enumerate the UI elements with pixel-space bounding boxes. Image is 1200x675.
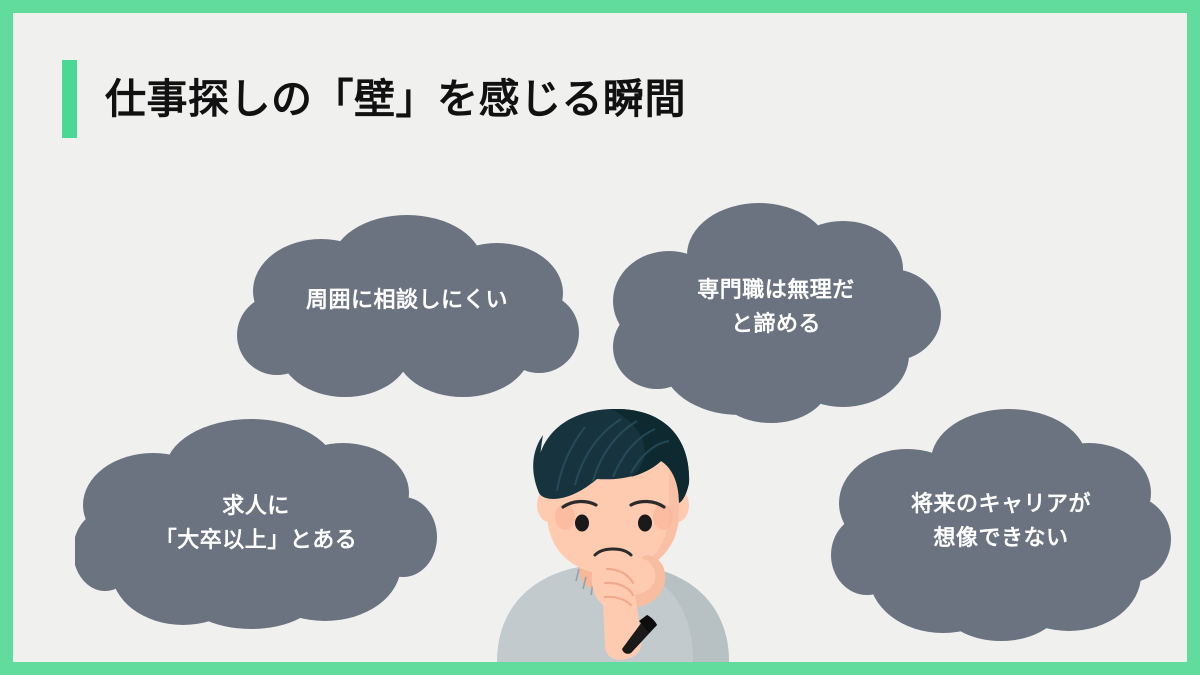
title-label: 仕事探しの「壁」を感じる瞬間 — [105, 79, 686, 120]
thought-cloud-degree: 求人に 「大卒以上」とある — [75, 413, 437, 629]
eye-right — [638, 515, 652, 532]
cloud-label: 求人に 「大卒以上」とある — [75, 489, 437, 557]
slide-root: 仕事探しの「壁」を感じる瞬間 周囲に相談しにくい — [0, 0, 1200, 675]
cloud-label: 将来のキャリアが 想像できない — [831, 487, 1171, 555]
cloud-label: 専門職は無理だ と諦める — [611, 273, 941, 341]
page-title: 仕事探しの「壁」を感じる瞬間 — [62, 60, 686, 138]
cloud-label: 周囲に相談しにくい — [235, 283, 579, 317]
thought-cloud-consult: 周囲に相談しにくい — [235, 209, 579, 397]
slide-content-area: 仕事探しの「壁」を感じる瞬間 周囲に相談しにくい — [13, 13, 1187, 662]
title-accent-bar — [62, 60, 77, 138]
eye-left — [575, 515, 589, 532]
cheek-left — [555, 504, 575, 530]
thought-cloud-career: 将来のキャリアが 想像できない — [831, 405, 1171, 641]
thought-cloud-professional: 専門職は無理だ と諦める — [611, 197, 941, 423]
thinking-person-illustration — [479, 409, 747, 662]
